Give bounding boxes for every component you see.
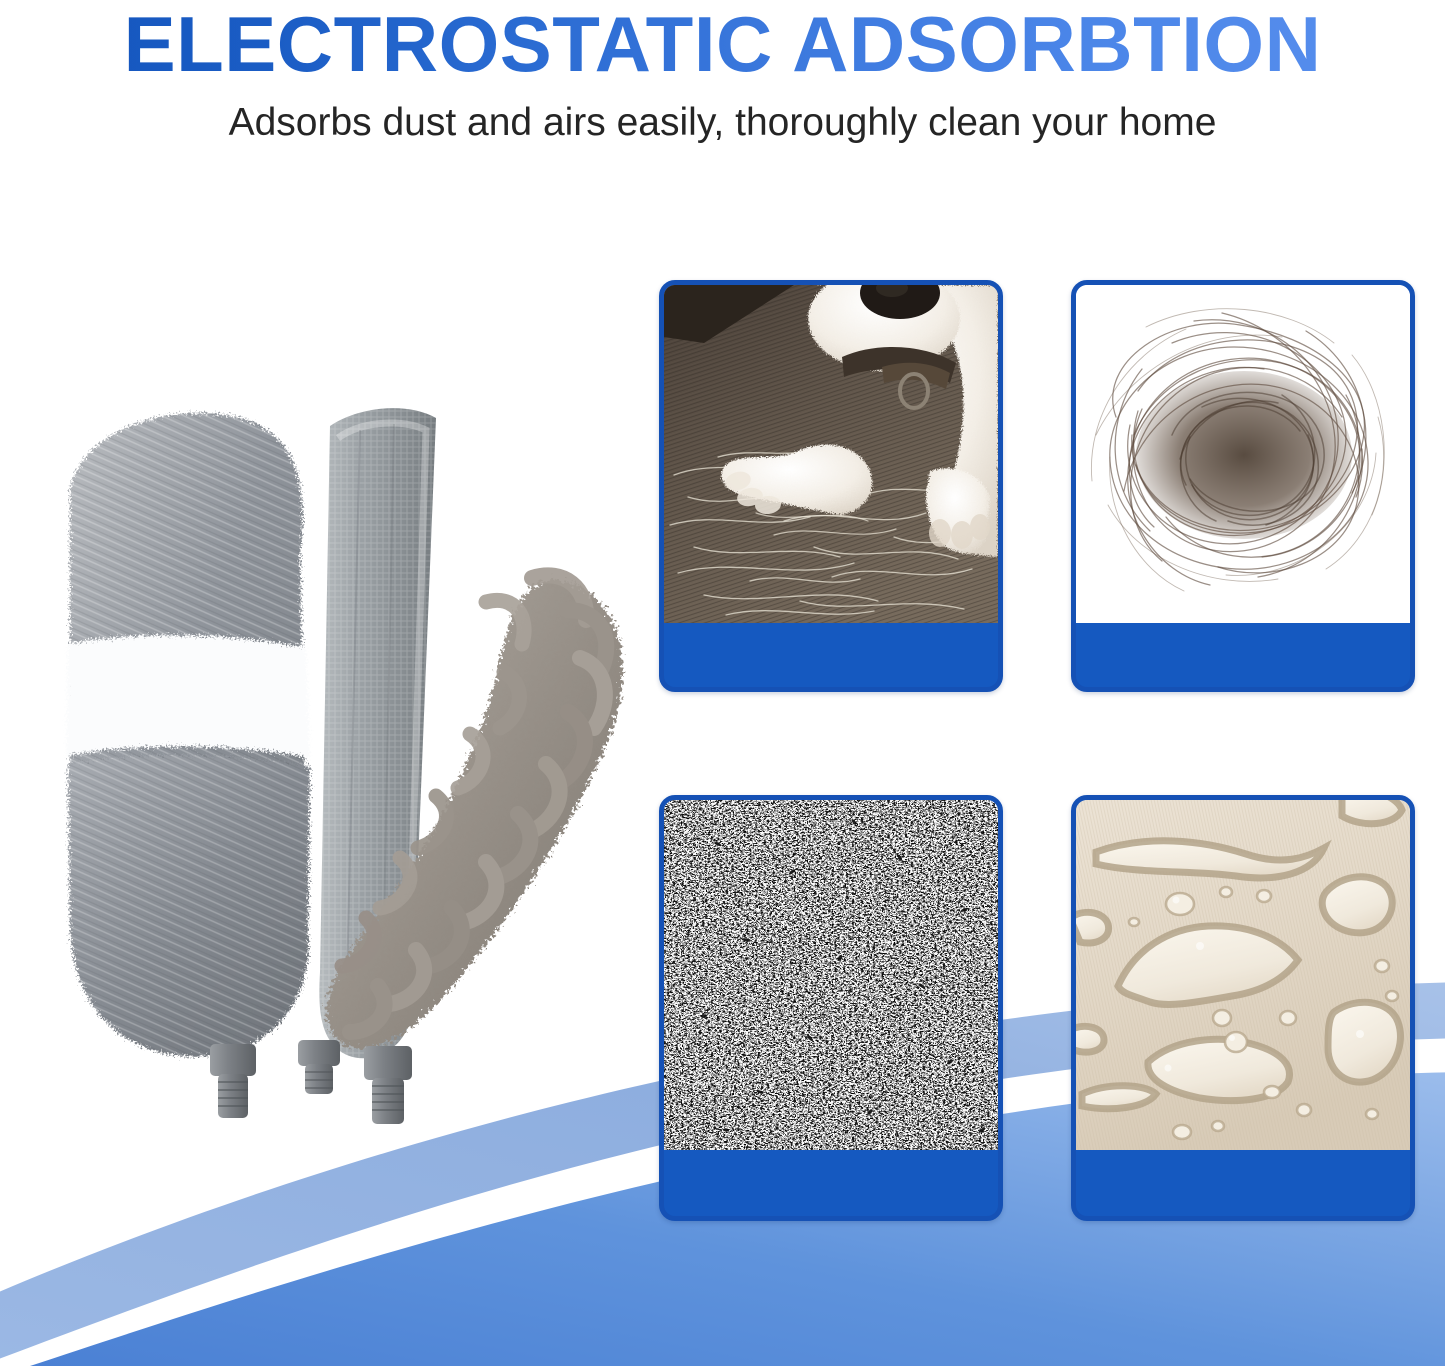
feature-card-pet-hair[interactable]: Pet Hair (659, 280, 1003, 692)
card-label-dust: Dust (664, 1150, 998, 1221)
card-label-water: Water (1076, 1150, 1410, 1221)
dust-photo (664, 800, 998, 1150)
hair-photo (1076, 285, 1410, 623)
card-label-hair: Hair (1076, 623, 1410, 692)
duster-screw-connectors (210, 1040, 412, 1124)
product-image (8, 372, 658, 1132)
feature-card-dust[interactable]: Dust (659, 795, 1003, 1221)
fluffy-chenille-duster-head (66, 413, 310, 1056)
page-title: ELECTROSTATIC ADSORBTION (0, 0, 1445, 86)
water-photo (1076, 800, 1410, 1150)
page-subtitle: Adsorbs dust and airs easily, thoroughly… (0, 100, 1445, 146)
product-feature-panel: ELECTROSTATIC ADSORBTION Adsorbs dust an… (0, 0, 1445, 1366)
card-label-pet-hair: Pet Hair (664, 623, 998, 692)
pet-hair-photo (664, 285, 998, 623)
feature-cards-grid: Pet Hair (659, 280, 1415, 1220)
feature-card-hair[interactable]: Hair (1071, 280, 1415, 692)
feature-card-water[interactable]: Water (1071, 795, 1415, 1221)
header: ELECTROSTATIC ADSORBTION Adsorbs dust an… (0, 0, 1445, 146)
